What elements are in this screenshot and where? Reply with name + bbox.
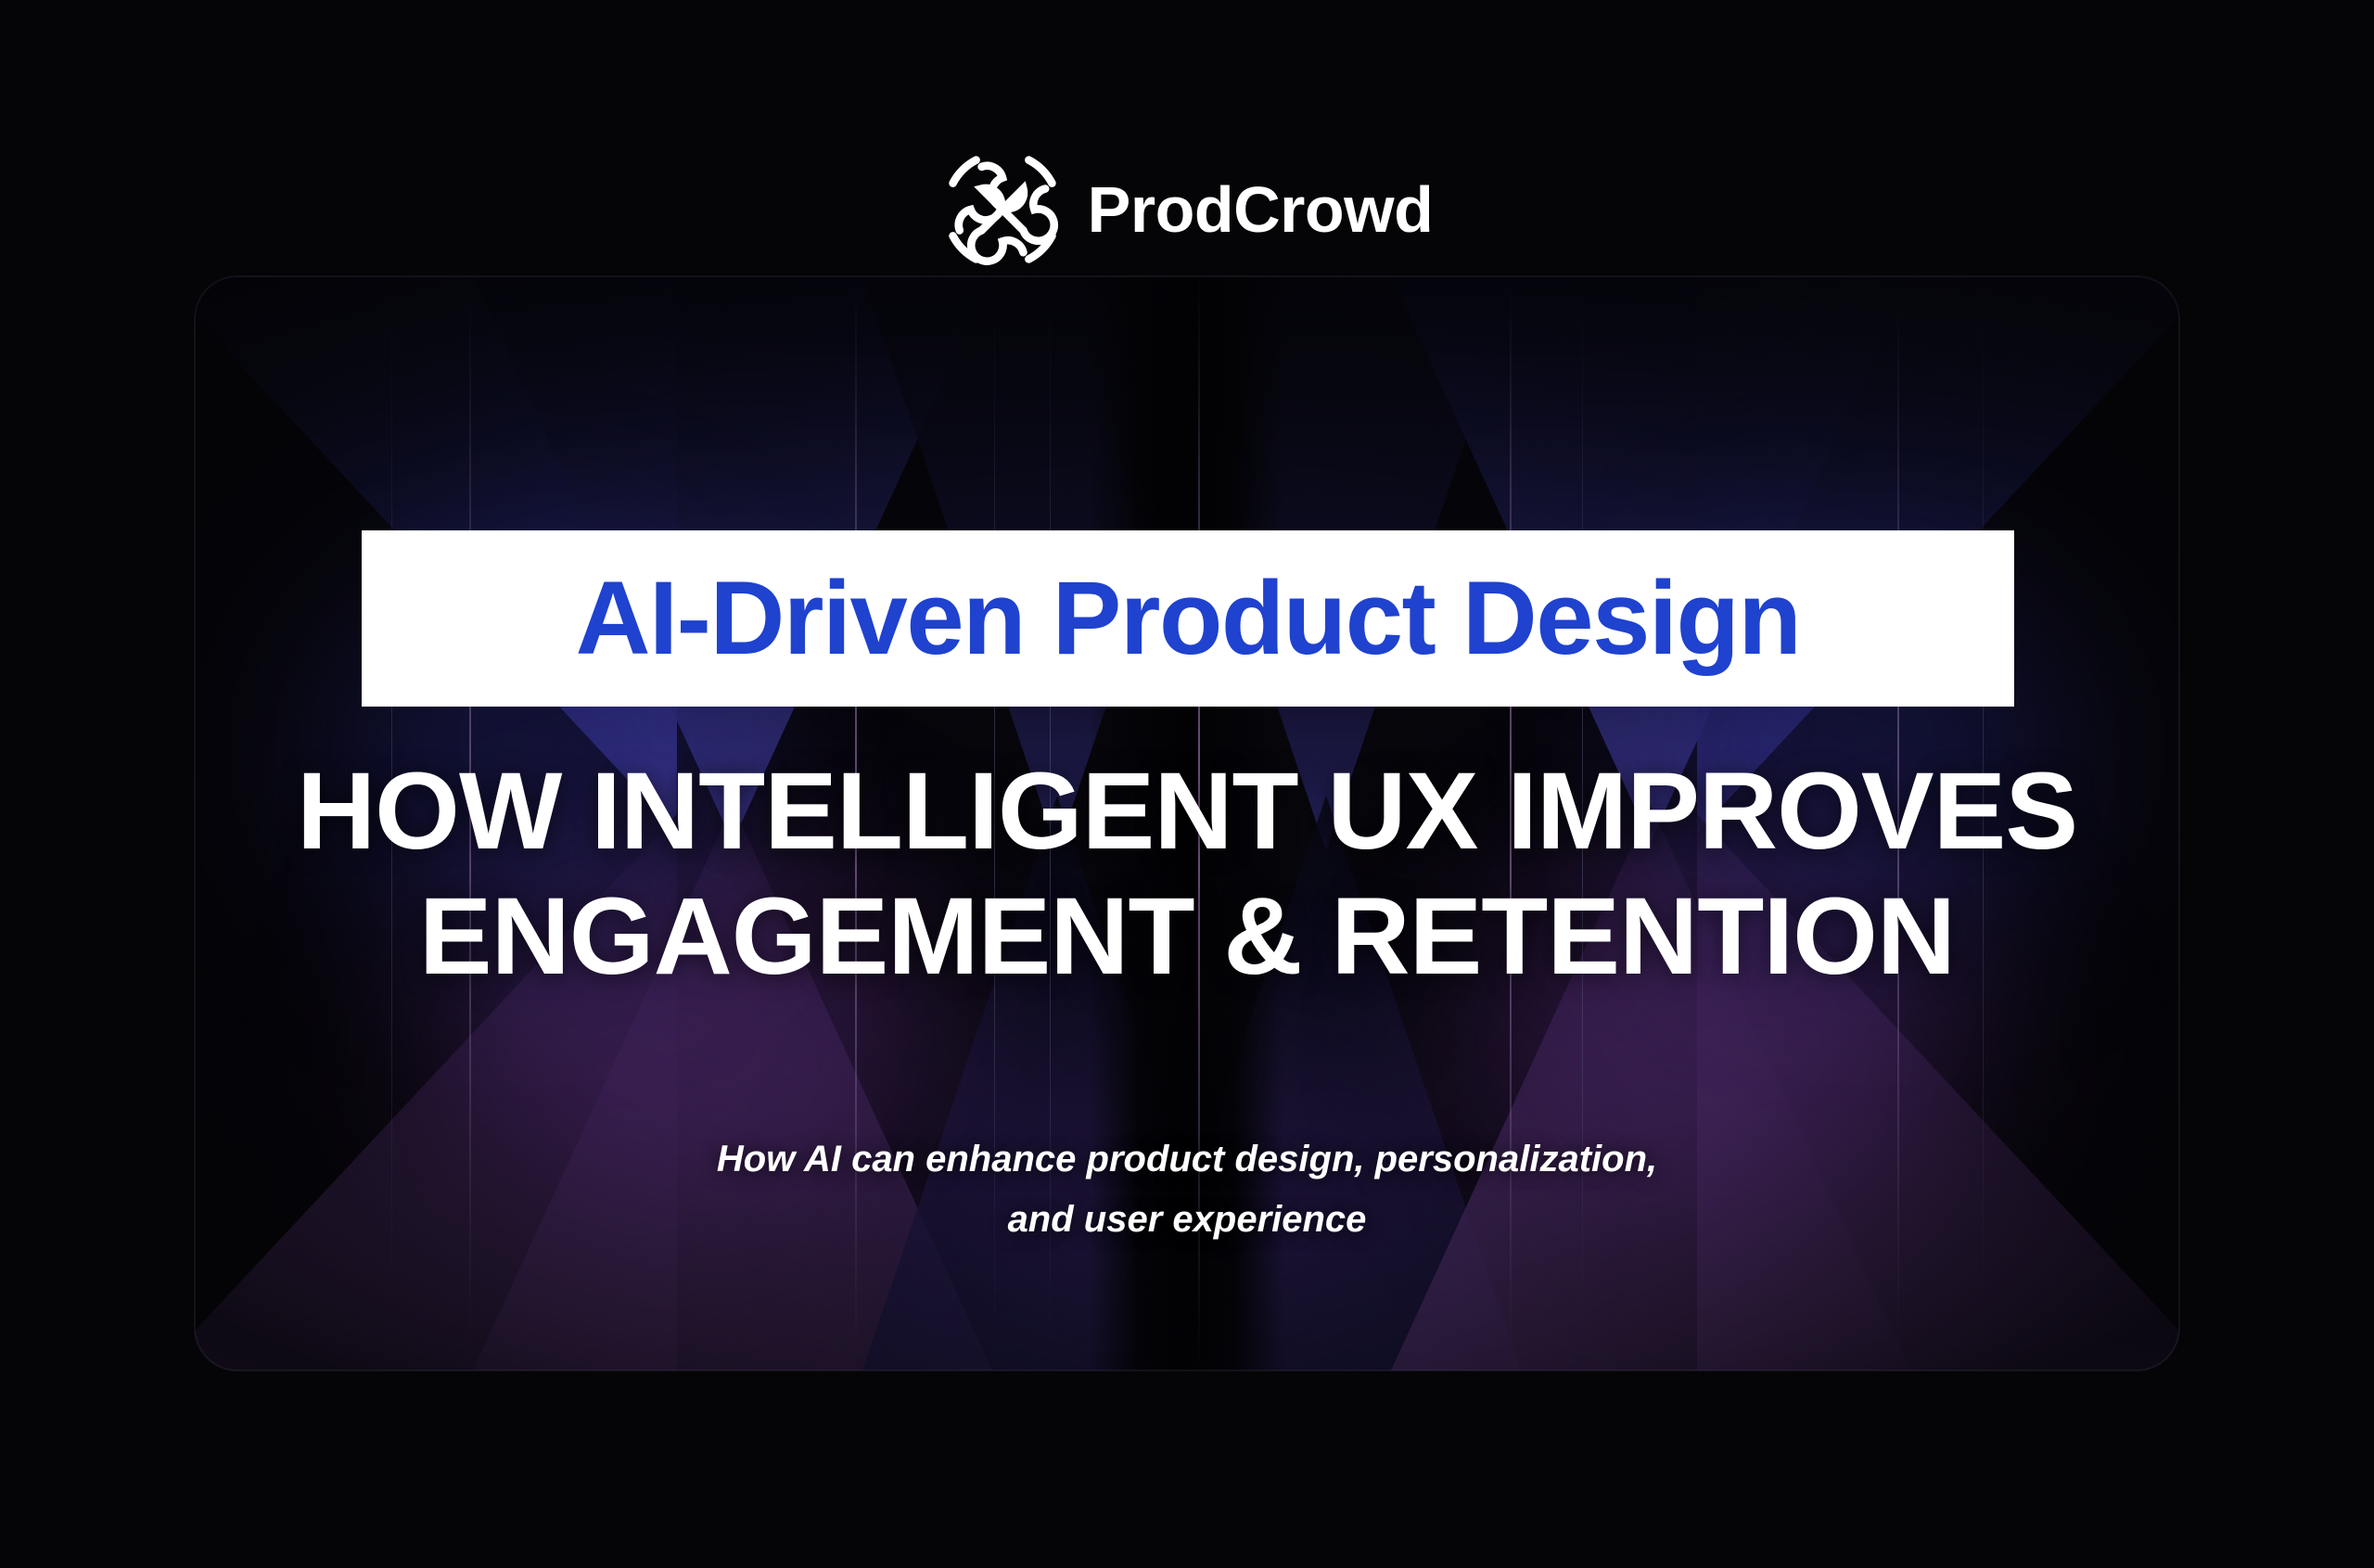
- subtitle-line-1: How AI can enhance product design, perso…: [0, 1129, 2374, 1190]
- title-banner: AI-Driven Product Design: [362, 530, 2014, 707]
- celtic-knot-logo-icon: [941, 148, 1064, 271]
- presentation-slide: ProdCrowd AI-Driven Product Design HOW I…: [0, 0, 2374, 1568]
- headline-line-1: HOW INTELLIGENT UX IMPROVES: [0, 749, 2374, 874]
- subtitle: How AI can enhance product design, perso…: [0, 1129, 2374, 1250]
- brand-name: ProdCrowd: [1088, 177, 1434, 242]
- brand-logo: ProdCrowd: [0, 148, 2374, 271]
- headline: HOW INTELLIGENT UX IMPROVES ENGAGEMENT &…: [0, 749, 2374, 999]
- banner-title: AI-Driven Product Design: [576, 567, 1801, 670]
- headline-line-2: ENGAGEMENT & RETENTION: [0, 874, 2374, 1000]
- subtitle-line-2: and user experience: [0, 1190, 2374, 1250]
